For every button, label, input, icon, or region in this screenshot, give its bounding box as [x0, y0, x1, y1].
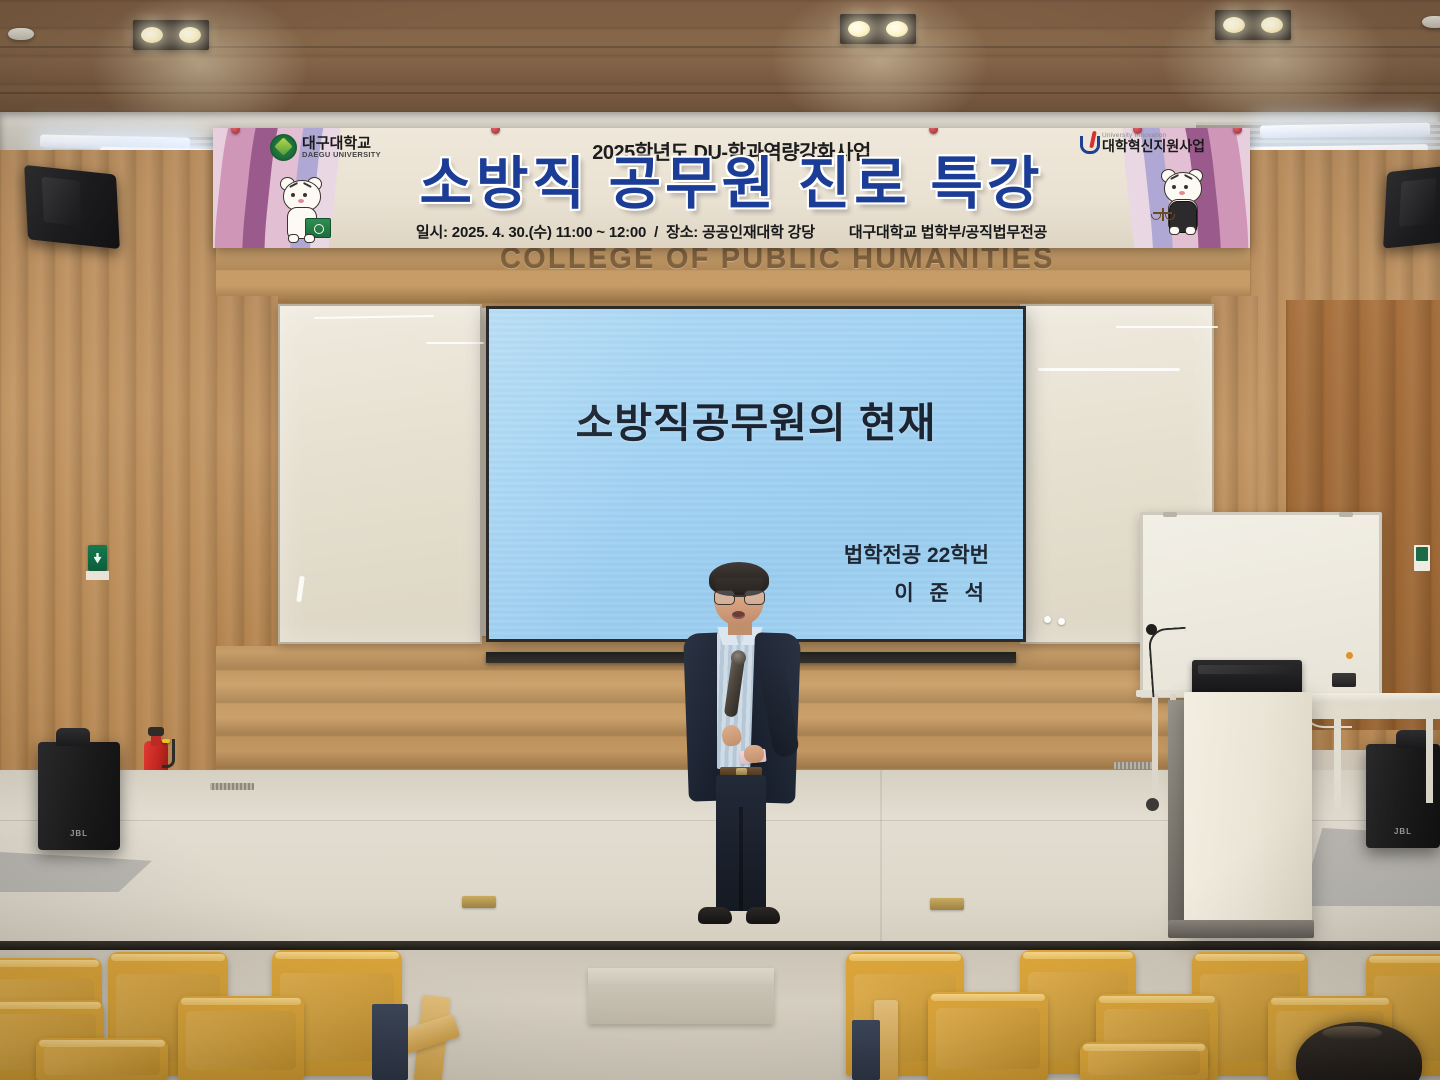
jbl-brand-label: JBL [1394, 827, 1412, 836]
presenter [676, 567, 804, 935]
jbl-brand-label: JBL [70, 829, 88, 838]
table-leg [1426, 719, 1433, 803]
whiteboard-caster [1146, 798, 1159, 811]
ceiling-downlight [840, 14, 916, 44]
floor-vent [1114, 762, 1154, 769]
event-banner: 대구대학교 DAEGU UNIVERSITY University Innova… [213, 128, 1250, 248]
banner-details: 일시: 2025. 4. 30.(수) 11:00 ~ 12:00 / 장소: … [213, 221, 1250, 242]
stage-step [588, 968, 774, 1024]
smoke-detector [8, 28, 34, 40]
slide-title: 소방직공무원의 현재 [489, 389, 1023, 449]
presenter-shoe [698, 907, 732, 924]
slide-presenter-major: 법학전공 22학번 [844, 539, 989, 569]
seat-panel [372, 1004, 408, 1080]
ceiling-downlight [1215, 10, 1291, 40]
wall-speaker-left [24, 165, 120, 249]
board-magnet [1044, 616, 1051, 623]
writing-board-left [278, 304, 482, 644]
floor-vent [210, 783, 254, 790]
tiger-mascot-judge-icon [1156, 172, 1208, 234]
lectern [1184, 692, 1312, 936]
auditorium-seat[interactable] [928, 992, 1048, 1080]
presenter-shoe [746, 907, 780, 924]
stage-edge [0, 941, 1440, 950]
smoke-detector [1422, 16, 1440, 28]
auditorium-seat[interactable] [36, 1038, 168, 1080]
seat-panel [852, 1020, 880, 1080]
emergency-exit-sign [88, 545, 107, 571]
gooseneck-mic-head-icon [1146, 624, 1157, 635]
banner-separator: / [654, 224, 658, 241]
board-magnet [1058, 618, 1065, 625]
wall-power-outlet[interactable] [1332, 673, 1356, 687]
presenter-hand [744, 745, 764, 763]
wall-exit-sign-right [1414, 545, 1430, 571]
stage-floor-box [930, 898, 964, 910]
back-wall-left-pier [216, 296, 278, 646]
stage-floor-box [462, 896, 496, 908]
slide-presenter-name: 이 준 석 [894, 577, 989, 607]
auditorium-seat[interactable] [178, 996, 304, 1080]
wall-speaker-right [1383, 163, 1440, 248]
floor-speaker-left: JBL [38, 742, 120, 850]
exit-sign-plate [86, 571, 109, 580]
lecture-hall-photo: COLLEGE OF PUBLIC HUMANITIES 대구대학교 [0, 0, 1440, 1080]
banner-datetime: 일시: 2025. 4. 30.(수) 11:00 ~ 12:00 [416, 224, 646, 241]
eyeglasses-icon [714, 590, 765, 603]
banner-department: 대구대학교 법학부/공직법무전공 [849, 224, 1047, 241]
banner-title: 소방직 공무원 진로 특강 [213, 156, 1250, 213]
auditorium-seat[interactable] [1080, 1042, 1208, 1080]
gooseneck-microphone [1148, 627, 1191, 697]
tiger-mascot-with-book-icon [275, 180, 327, 242]
scales-of-justice-icon [1153, 206, 1173, 226]
wall-indicator-dot [1346, 652, 1353, 659]
banner-venue: 장소: 공공인재대학 강당 [666, 224, 815, 241]
whiteboard-leg [1152, 694, 1158, 802]
lectern-base [1168, 920, 1314, 938]
ceiling-downlight [133, 20, 209, 50]
table-leg [1334, 719, 1341, 809]
